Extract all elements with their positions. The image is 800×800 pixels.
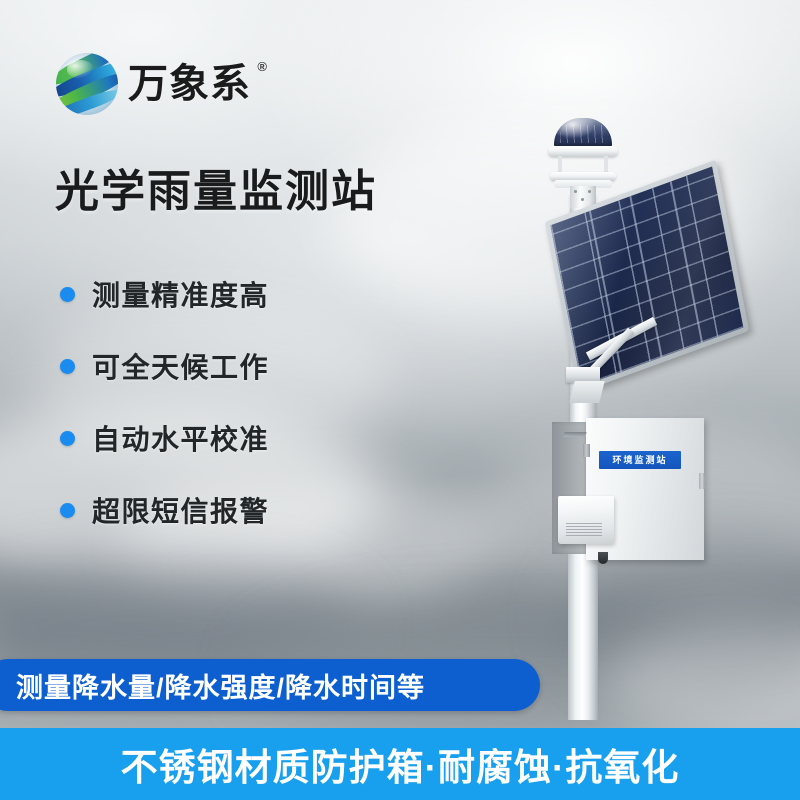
globe-swirl-icon: [56, 53, 118, 115]
feature-label: 测量精准度高: [92, 274, 269, 314]
bullet-dot-icon: [60, 431, 75, 446]
cabinet-drain-foot: [598, 552, 608, 564]
product-promo-image: 环境监测站 万象系 ® 光学雨量监测站 测量精准度高 可全天候工作 自动水平: [0, 0, 800, 800]
bullet-dot-icon: [60, 503, 75, 518]
brand-logo: 万象系 ®: [56, 53, 251, 115]
feature-list: 测量精准度高 可全天候工作 自动水平校准 超限短信报警: [60, 258, 269, 546]
optical-rain-sensor-icon: [546, 118, 620, 202]
bullet-dot-icon: [60, 287, 75, 302]
capability-banner: 测量降水量/降水强度/降水时间等: [0, 659, 540, 711]
registered-trademark-icon: ®: [257, 60, 268, 73]
panel-bracket-base: [569, 381, 604, 403]
cabinet-name-plate-text: 环境监测站: [612, 456, 667, 465]
cabinet-name-plate: 环境监测站: [599, 451, 681, 469]
brand-name-text: 万象系: [128, 62, 251, 106]
sensor-dome: [554, 118, 612, 148]
cabinet-vented-module: [558, 496, 614, 544]
list-item: 自动水平校准: [60, 402, 269, 474]
cabinet-latch: [699, 473, 705, 489]
list-item: 超限短信报警: [60, 474, 269, 546]
page-title: 光学雨量监测站: [55, 168, 377, 216]
equipment-cabinet: 环境监测站: [552, 418, 704, 564]
feature-label: 可全天候工作: [92, 346, 269, 386]
material-banner: 不锈钢材质防护箱·耐腐蚀·抗氧化: [0, 728, 800, 800]
list-item: 测量精准度高: [60, 258, 269, 330]
list-item: 可全天候工作: [60, 330, 269, 402]
capability-banner-text: 测量降水量/降水强度/降水时间等: [16, 666, 425, 705]
cabinet-hinge: [583, 444, 590, 457]
feature-label: 自动水平校准: [92, 418, 269, 458]
brand-wordmark: 万象系 ®: [128, 64, 251, 104]
cabinet-vent-slot: [563, 432, 586, 437]
material-banner-text: 不锈钢材质防护箱·耐腐蚀·抗氧化: [121, 737, 680, 791]
feature-label: 超限短信报警: [92, 490, 269, 530]
bullet-dot-icon: [60, 359, 75, 374]
